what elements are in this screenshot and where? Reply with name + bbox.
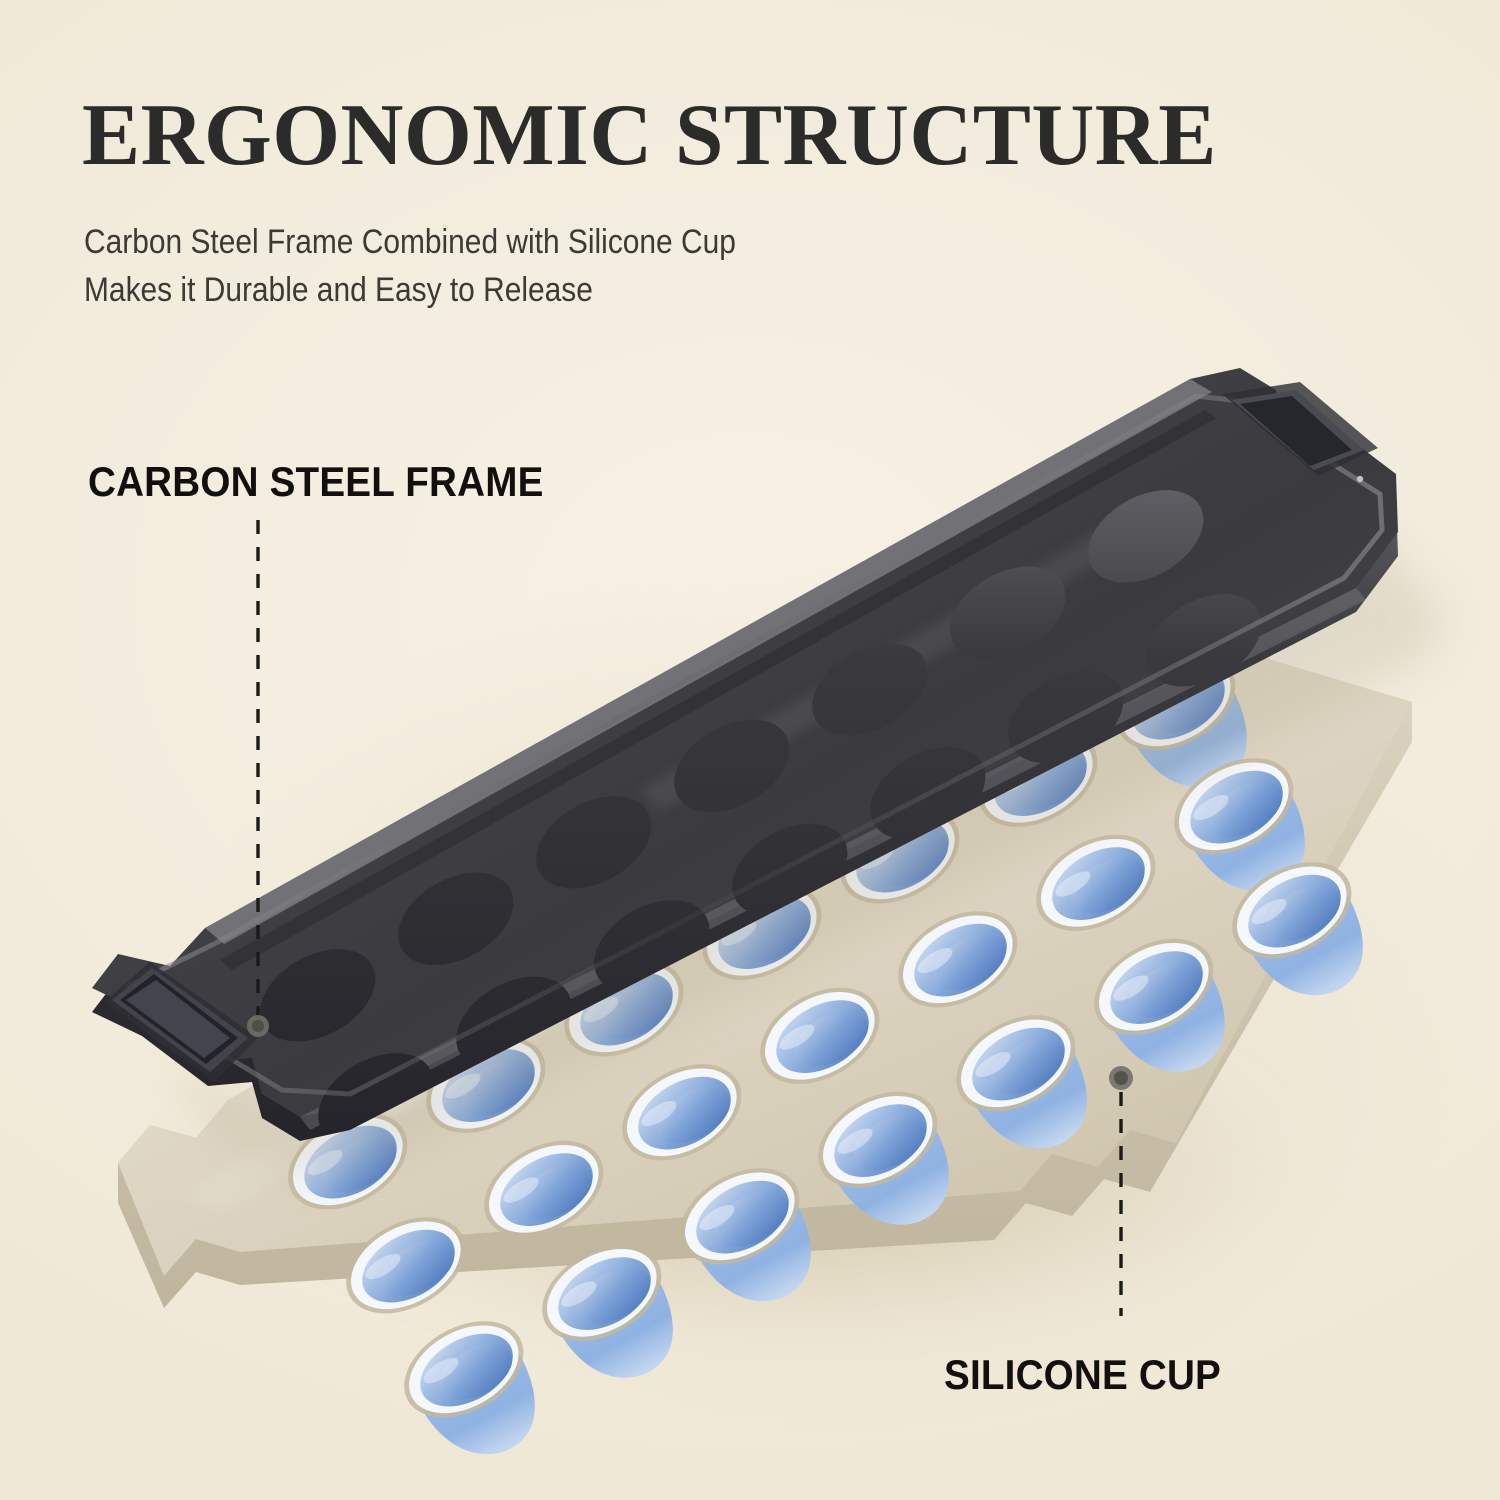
callout-label-silicone-cup: SILICONE CUP <box>944 1351 1221 1399</box>
callout-label-carbon-steel-frame: CARBON STEEL FRAME <box>88 458 544 506</box>
leader-dot-carbon-steel-frame-core <box>252 1020 264 1032</box>
page-title: ERGONOMIC STRUCTURE <box>82 92 1217 180</box>
page-subtitle: Carbon Steel Frame Combined with Silicon… <box>84 218 736 314</box>
leader-dot-silicone-cup-core <box>1114 1071 1128 1085</box>
